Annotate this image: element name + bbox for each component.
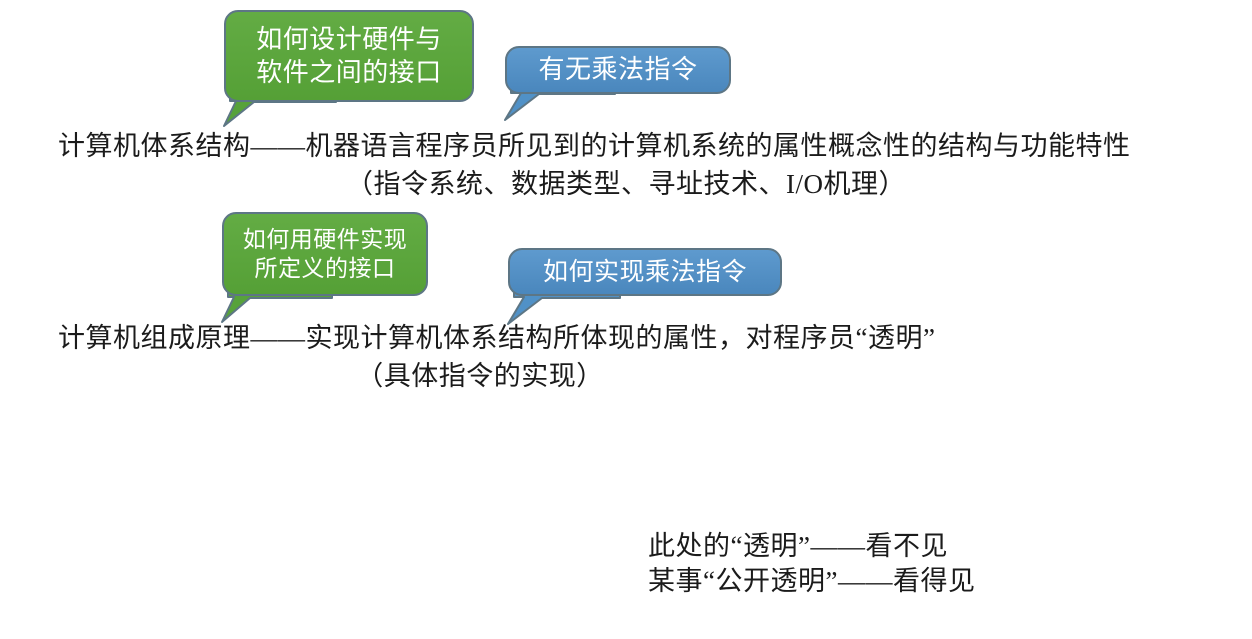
architecture-line-1: 计算机体系结构——机器语言程序员所见到的计算机系统的属性概念性的结构与功能特性 — [58, 128, 1131, 164]
callout-implement-interface-hardware[interactable]: 如何用硬件实现 所定义的接口 — [222, 212, 428, 296]
bottom-note-line-2: 某事“公开透明”——看得见 — [648, 562, 975, 600]
bottom-note-line-1: 此处的“透明”——看不见 — [648, 527, 948, 565]
callout-how-implement-multiply[interactable]: 如何实现乘法指令 — [508, 248, 782, 296]
callout-line: 如何实现乘法指令 — [543, 256, 747, 288]
slide-canvas: 如何设计硬件与 软件之间的接口 有无乘法指令 计算机体系结构——机器语言程序员所… — [0, 0, 1252, 639]
architecture-line-2: （指令系统、数据类型、寻址技术、I/O机理） — [240, 166, 1012, 202]
organization-line-2: （具体指令的实现） — [180, 358, 780, 394]
callout-line: 有无乘法指令 — [538, 53, 697, 86]
callout-design-interface[interactable]: 如何设计硬件与 软件之间的接口 — [224, 10, 474, 102]
callout-has-multiply-instruction[interactable]: 有无乘法指令 — [505, 46, 731, 94]
callout-line: 软件之间的接口 — [256, 56, 442, 89]
organization-line-1: 计算机组成原理——实现计算机体系结构所体现的属性，对程序员“透明” — [58, 320, 935, 356]
callout-line: 如何用硬件实现 — [243, 225, 408, 254]
callout-line: 所定义的接口 — [255, 254, 396, 283]
callout-line: 如何设计硬件与 — [256, 23, 442, 56]
